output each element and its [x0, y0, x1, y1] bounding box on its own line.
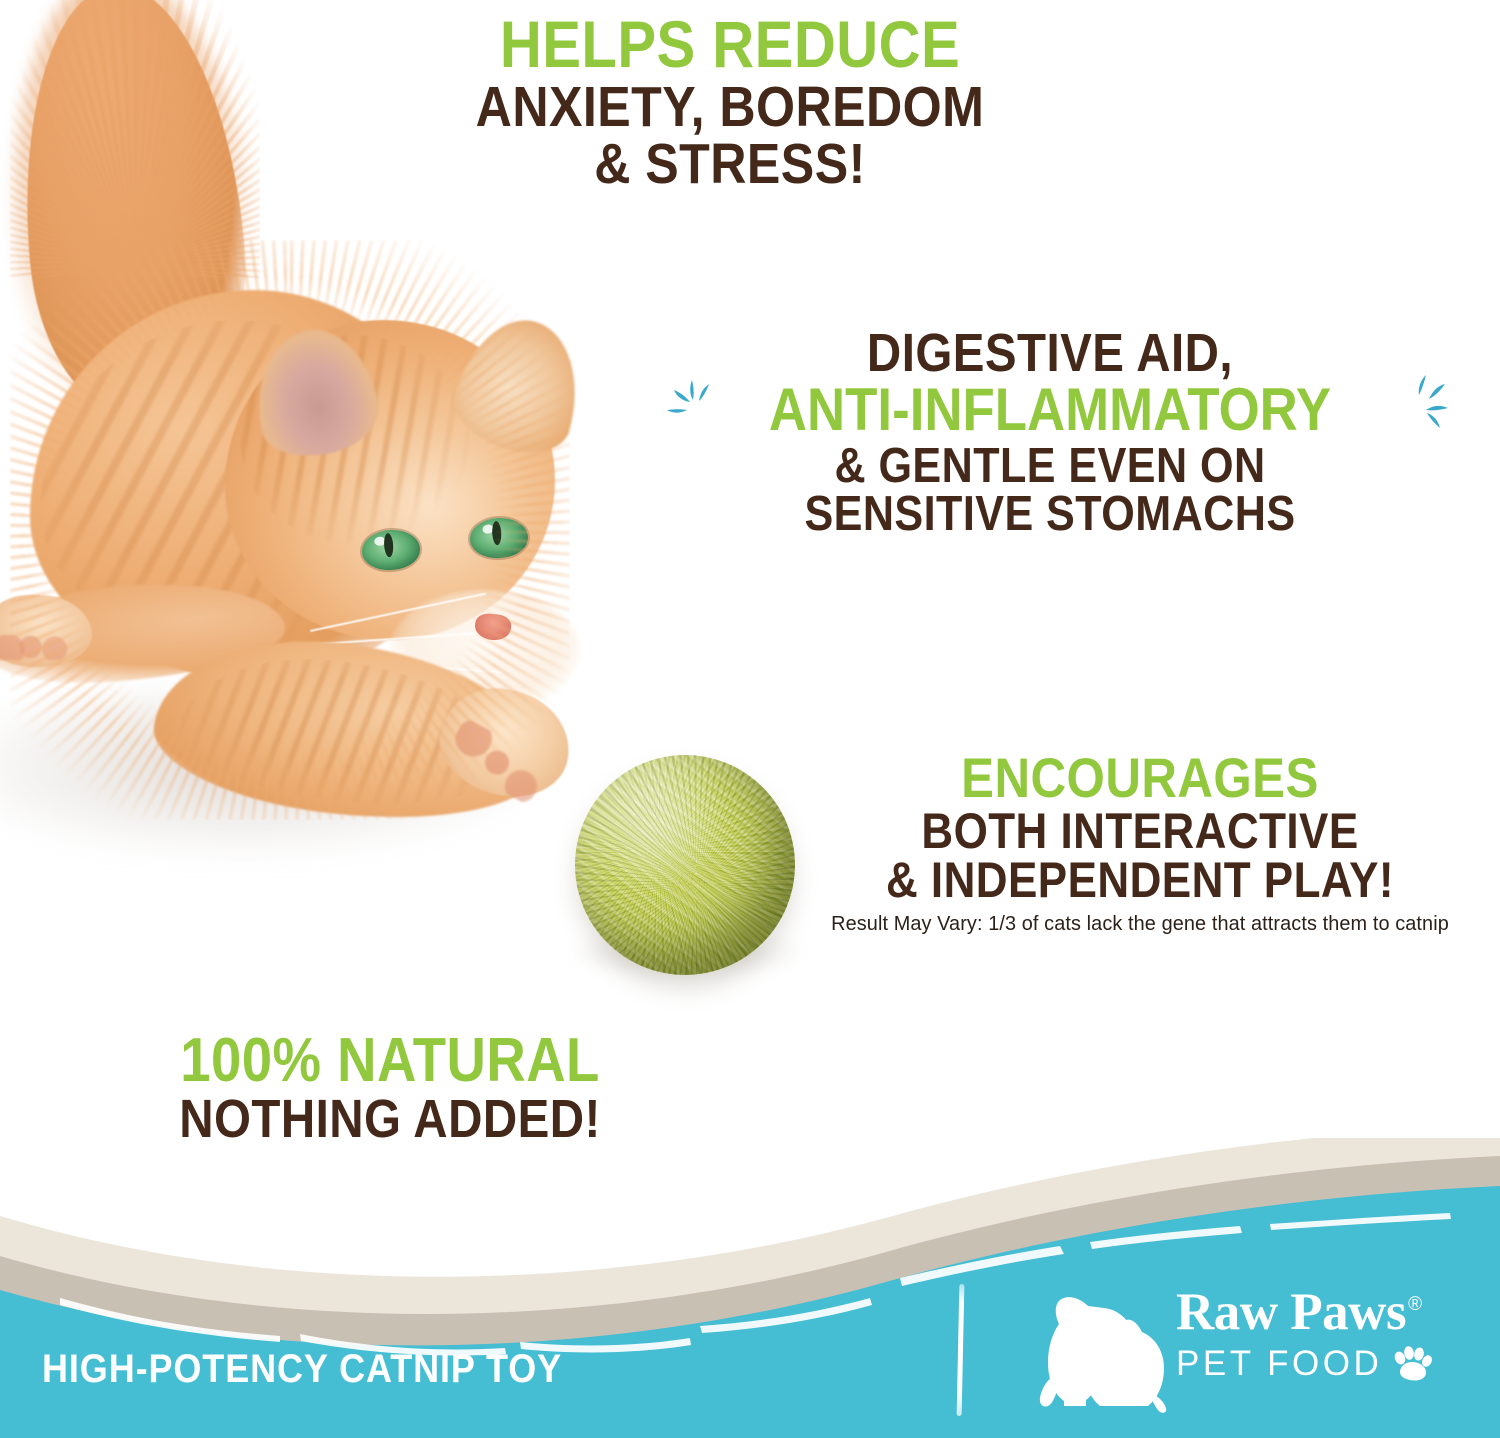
- kitten-fur-edge: [10, 240, 570, 820]
- registered-trademark-icon: ®: [1408, 1294, 1422, 1315]
- benefit-anxiety-line2: ANXIETY, BOREDOM: [440, 81, 1021, 134]
- benefit-digestive-line1: DIGESTIVE AID,: [689, 328, 1411, 378]
- brand-name: Raw Paws®: [1176, 1286, 1466, 1339]
- benefit-digestive-line2: ANTI-INFLAMMATORY: [689, 382, 1411, 438]
- benefit-encourages: ENCOURAGES BOTH INTERACTIVE & INDEPENDEN…: [810, 752, 1470, 933]
- brand-logo[interactable]: Raw Paws® PET FOOD: [1030, 1284, 1460, 1416]
- benefit-natural: 100% NATURAL NOTHING ADDED!: [110, 1032, 670, 1144]
- benefit-digestive-line3: & GENTLE EVEN ON: [689, 444, 1411, 490]
- product-tagline: HIGH-POTENCY CATNIP TOY: [42, 1347, 562, 1392]
- benefit-encourages-line3: & INDEPENDENT PLAY!: [850, 857, 1431, 904]
- paw-print-icon: [1392, 1346, 1432, 1382]
- brand-subtitle: PET FOOD: [1176, 1344, 1382, 1384]
- product-infographic: HELPS REDUCE ANXIETY, BOREDOM & STRESS! …: [0, 0, 1500, 1438]
- brand-name-text: Raw Paws: [1176, 1283, 1406, 1341]
- dog-and-cat-silhouette-icon: [1030, 1288, 1170, 1413]
- benefit-anxiety-line3: & STRESS!: [440, 138, 1021, 191]
- benefit-digestive: DIGESTIVE AID, ANTI-INFLAMMATORY & GENTL…: [640, 328, 1460, 537]
- catnip-ball-product: [575, 755, 795, 975]
- benefit-natural-line1: 100% NATURAL: [144, 1032, 637, 1090]
- benefit-anxiety: HELPS REDUCE ANXIETY, BOREDOM & STRESS!: [400, 14, 1060, 191]
- benefit-natural-line2: NOTHING ADDED!: [144, 1094, 637, 1144]
- footer-divider: [957, 1284, 965, 1416]
- footer-bar: HIGH-POTENCY CATNIP TOY Raw Paws® PET FO…: [0, 1278, 1500, 1438]
- benefit-digestive-line4: SENSITIVE STOMACHS: [689, 492, 1411, 538]
- catnip-disclaimer: Result May Vary: 1/3 of cats lack the ge…: [820, 914, 1460, 933]
- kitten-tail-fur: [10, 0, 260, 278]
- benefit-anxiety-line1: HELPS REDUCE: [440, 14, 1021, 75]
- benefit-encourages-line1: ENCOURAGES: [850, 752, 1431, 804]
- benefit-encourages-line2: BOTH INTERACTIVE: [850, 808, 1431, 855]
- brand-wordmark: Raw Paws® PET FOOD: [1176, 1286, 1466, 1384]
- brand-subtitle-row: PET FOOD: [1176, 1344, 1466, 1384]
